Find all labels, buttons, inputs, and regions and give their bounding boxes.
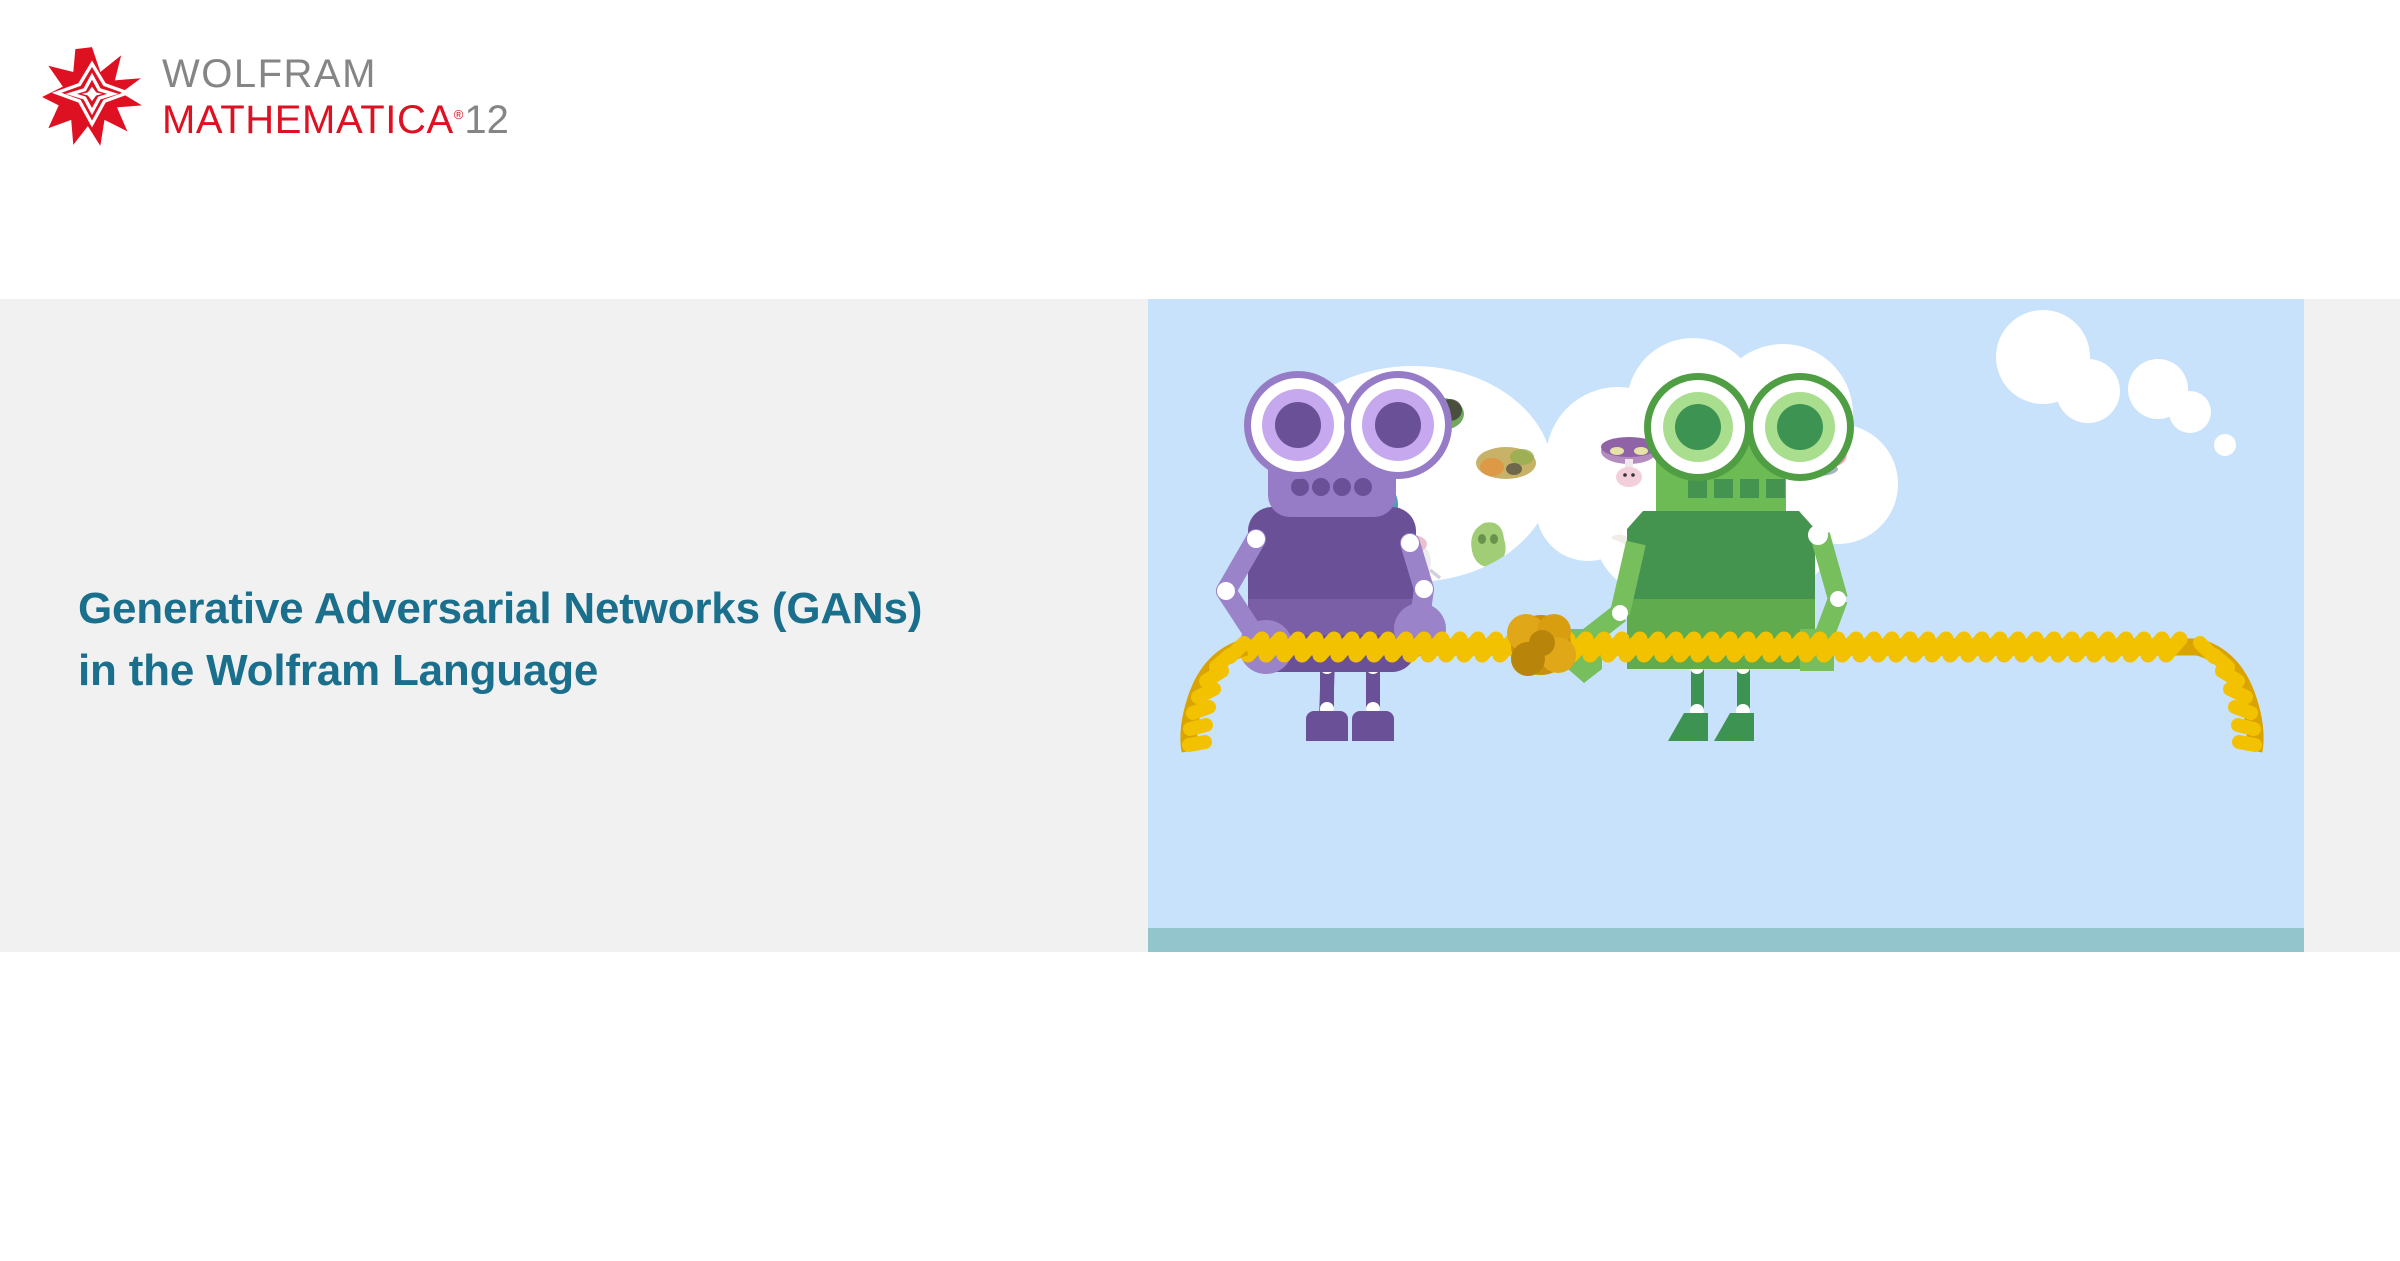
gan-tug-of-war-illustration bbox=[1148, 299, 2304, 952]
page-title-line-1: Generative Adversarial Networks (GANs) bbox=[78, 578, 1078, 640]
logo-line-mathematica: MATHEMATICA bbox=[162, 100, 454, 140]
page-title: Generative Adversarial Networks (GANs) i… bbox=[78, 578, 1078, 703]
logo-version-number: 12 bbox=[464, 100, 509, 140]
page-title-line-2: in the Wolfram Language bbox=[78, 640, 1078, 702]
registered-trademark-icon: ® bbox=[454, 108, 464, 121]
generator-robot-purple bbox=[1217, 371, 1452, 741]
generated-sample-6 bbox=[1471, 522, 1505, 567]
wolfram-mathematica-logo: WOLFRAM MATHEMATICA ® 12 bbox=[40, 45, 509, 149]
wolfram-spikey-star-icon bbox=[40, 45, 144, 149]
logo-line-wolfram: WOLFRAM bbox=[162, 54, 509, 94]
logo-wordmark: WOLFRAM MATHEMATICA ® 12 bbox=[162, 54, 509, 140]
generated-sample-4 bbox=[1476, 447, 1536, 479]
rope-knot bbox=[1507, 614, 1576, 676]
illustration-svg bbox=[1148, 299, 2304, 952]
thought-trail-bubbles bbox=[1996, 310, 2236, 456]
